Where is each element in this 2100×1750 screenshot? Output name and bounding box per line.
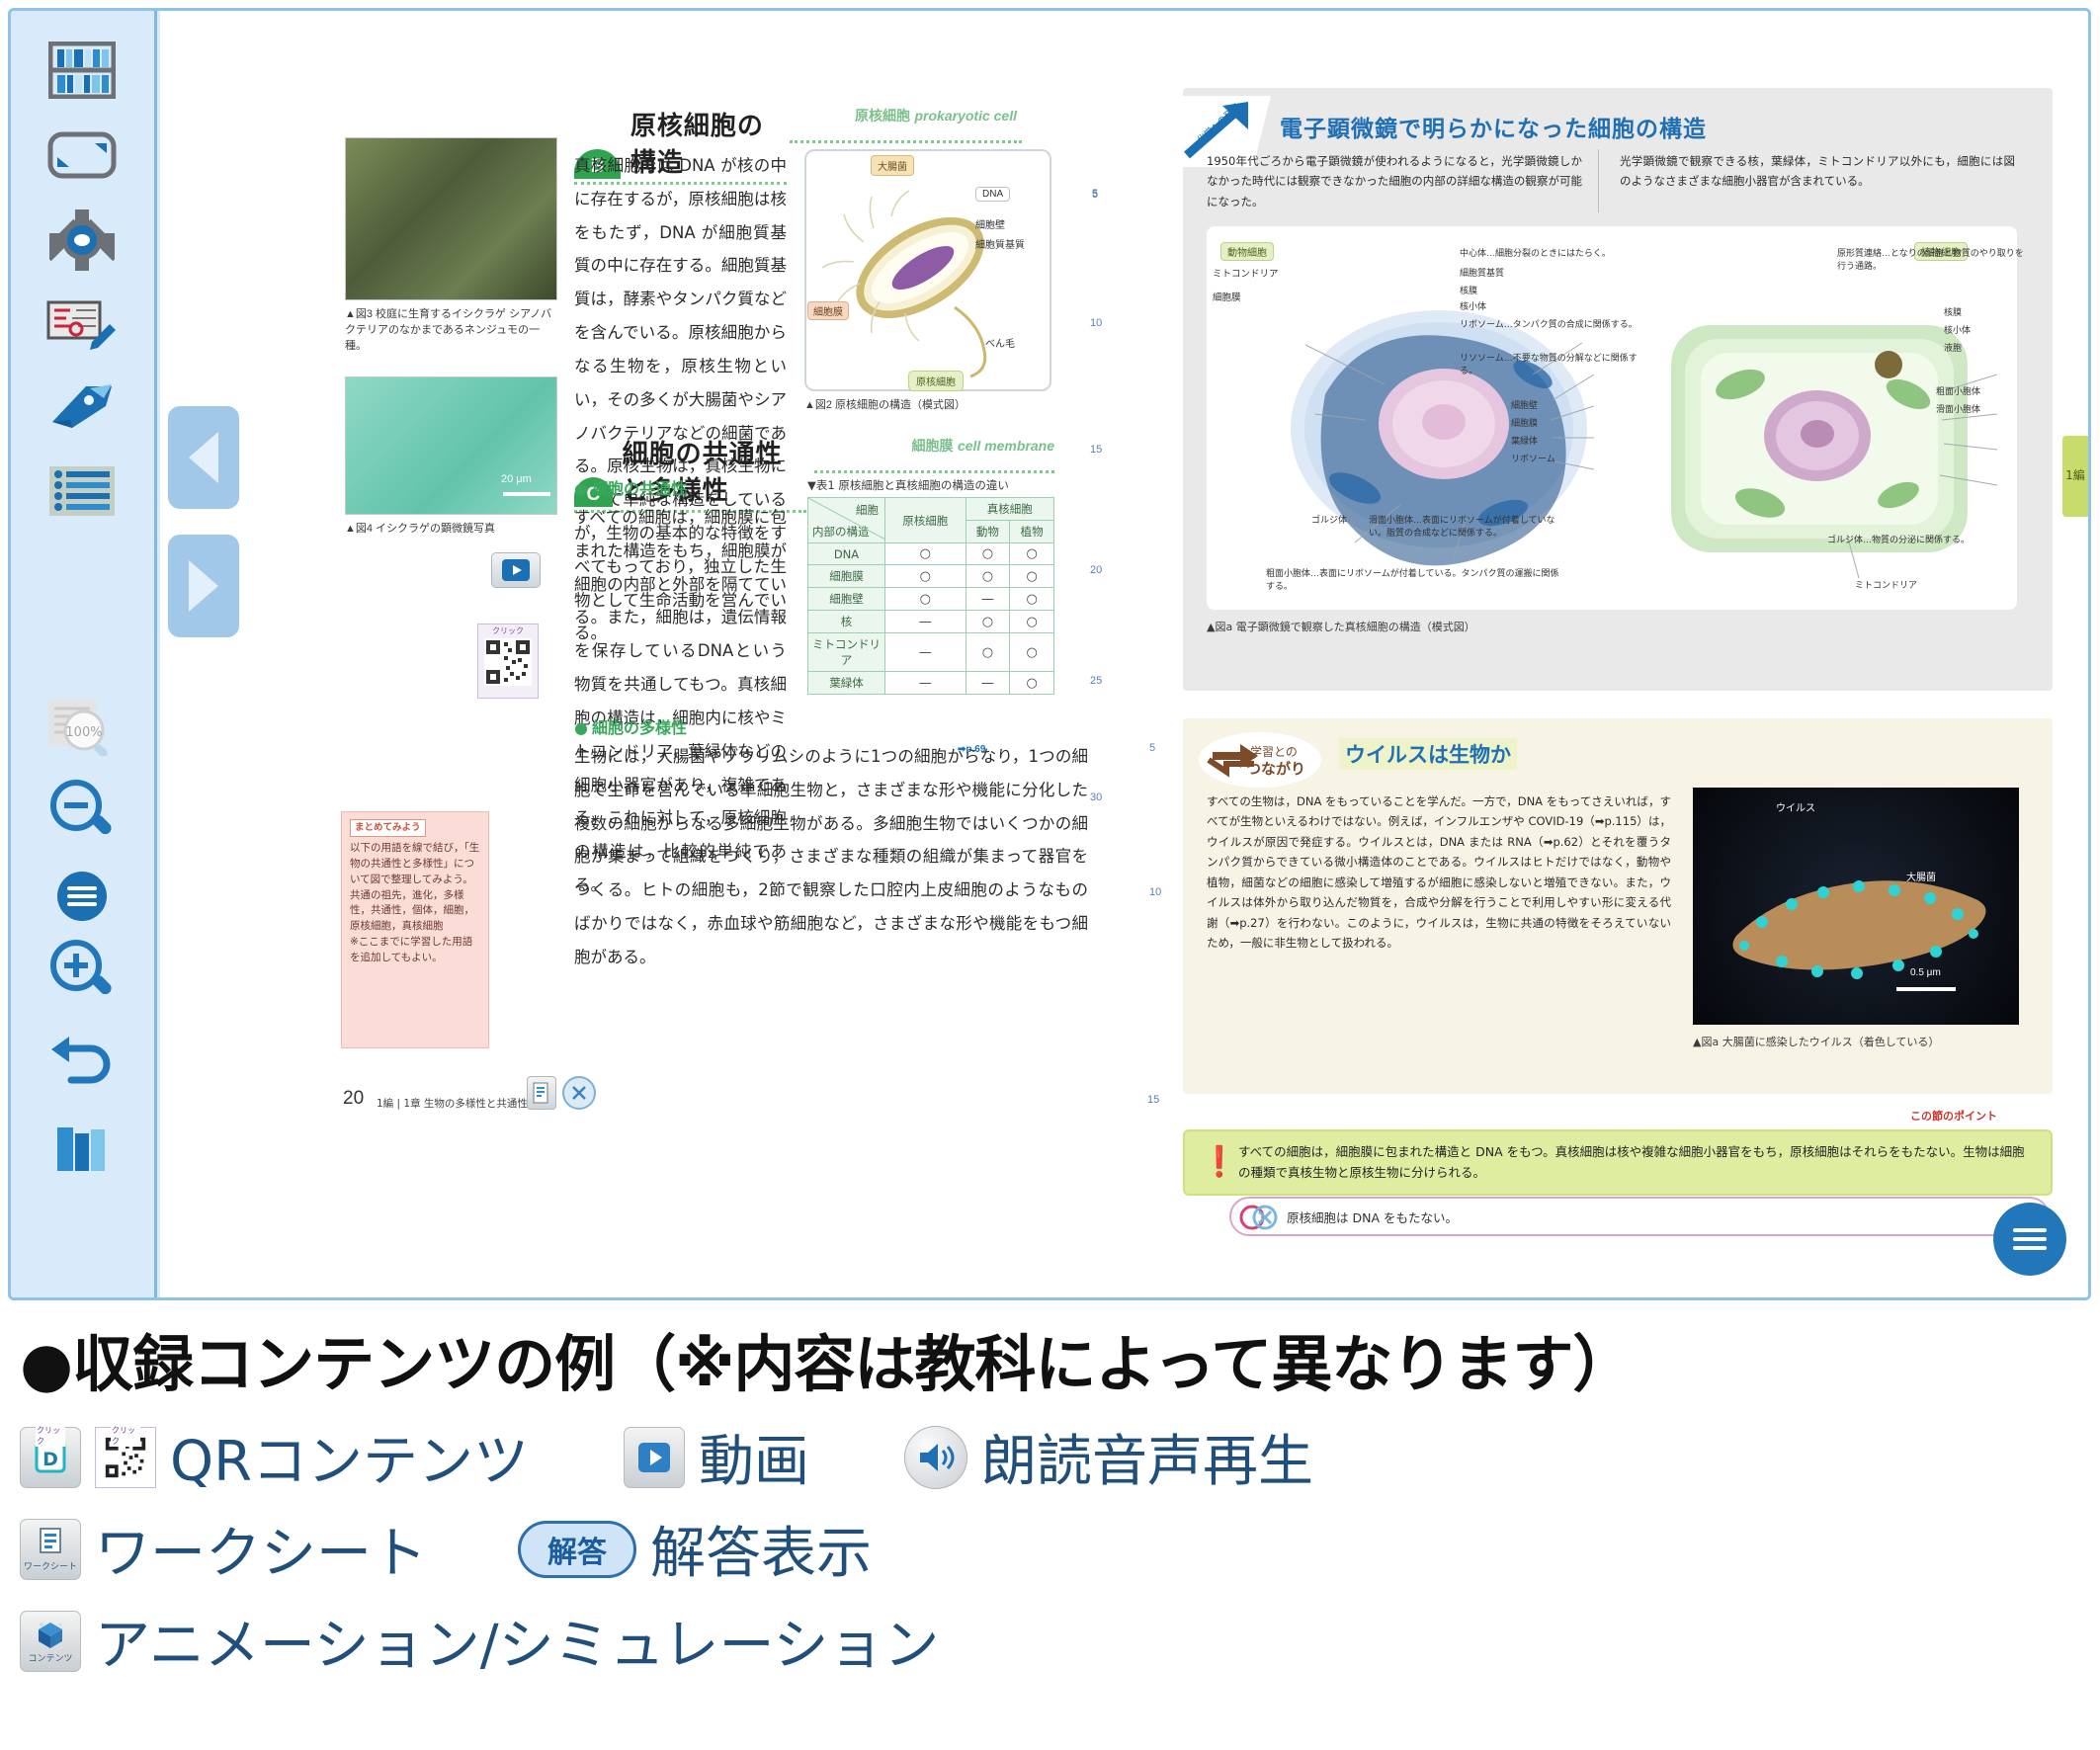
point-label: この節のポイント bbox=[1910, 1108, 1997, 1124]
legend-row-1: クリック D クリック bbox=[20, 1417, 2080, 1497]
table-row: ミトコンドリア—○○ bbox=[808, 633, 1054, 672]
label-lysosome: リソソーム…不要な物質の分解などに関係する。 bbox=[1460, 351, 1647, 376]
panel1-figure-card bbox=[1207, 226, 2017, 610]
contents-cube-icon: コンテンツ bbox=[20, 1611, 81, 1672]
marker-pen-icon[interactable] bbox=[37, 365, 127, 448]
label-rough-er-right: 粗面小胞体 bbox=[1936, 384, 1980, 397]
table1-cell: — bbox=[966, 672, 1010, 695]
svg-text:化学への発展: 化学への発展 bbox=[1195, 101, 1242, 145]
legend-label-video: 動画 bbox=[699, 1417, 809, 1497]
table1-corner: 細胞 内部の構造 bbox=[808, 498, 885, 543]
right-line-num-10: 10 bbox=[1149, 886, 1161, 898]
menu-fab-button[interactable] bbox=[1993, 1203, 2066, 1276]
side-chapter-tab[interactable]: 1編 bbox=[2062, 436, 2088, 517]
click-label-1: クリック bbox=[36, 1425, 65, 1447]
figure3-caption: ▲図3 校庭に生育するイシクラゲ シアノバクテリアのなかまであるネンジュモの一種… bbox=[345, 307, 557, 355]
svg-text:D: D bbox=[42, 1449, 58, 1470]
worksheet-icon: ワークシート bbox=[20, 1519, 81, 1580]
table1-cell: ○ bbox=[966, 565, 1010, 588]
table1-group-eukaryote: 真核細胞 bbox=[966, 498, 1054, 521]
answer-bar-text: 原核細胞は DNA をもたない。 bbox=[1287, 1208, 1458, 1226]
close-icon bbox=[570, 1084, 588, 1102]
term-membrane-jp: 細胞膜 bbox=[911, 439, 953, 455]
label-smooth-er-right: 滑面小胞体 bbox=[1936, 402, 1980, 415]
answer-marks-icon bbox=[1239, 1203, 1281, 1232]
table1-cell: ○ bbox=[966, 611, 1010, 633]
legend-row-2: ワークシート ワークシート 解答 解答表示 bbox=[20, 1509, 2080, 1589]
panel1-col2: 光学顕微鏡で観察できる核，葉緑体，ミトコンドリア以外にも，細胞には図のようなさま… bbox=[1620, 151, 2015, 192]
legend-label-worksheet: ワークシート bbox=[95, 1509, 427, 1589]
label-cytoplasm-matrix: 細胞質基質 bbox=[1460, 266, 1504, 279]
answer-icon: 解答 bbox=[518, 1521, 636, 1578]
play-icon bbox=[502, 559, 530, 581]
hamburger-icon bbox=[2013, 1223, 2047, 1255]
legend-item-answer[interactable]: 解答 解答表示 bbox=[518, 1509, 872, 1589]
legend-label-animation: アニメーション/シミュレーション bbox=[95, 1601, 939, 1681]
table1-cell: ○ bbox=[1010, 611, 1054, 633]
figure2-label-dna: DNA bbox=[975, 187, 1010, 202]
tool-rail: 100% bbox=[11, 11, 157, 1297]
zoom-out-icon[interactable] bbox=[37, 770, 127, 853]
table1-col-plant: 植物 bbox=[1010, 521, 1054, 543]
line-num-20: 20 bbox=[1090, 564, 1102, 576]
chevron-left-icon bbox=[189, 432, 218, 483]
label-golgi-func: ゴルジ体…物質の分泌に関係する。 bbox=[1827, 533, 1985, 545]
table1-cell: ○ bbox=[966, 633, 1010, 672]
table1-cell: — bbox=[885, 611, 966, 633]
table1-row-label: DNA bbox=[808, 543, 885, 565]
table1-cell: ○ bbox=[966, 543, 1010, 565]
menu-icon[interactable] bbox=[37, 855, 127, 938]
table1-row-label: ミトコンドリア bbox=[808, 633, 885, 672]
side-tab-label: 1編 bbox=[2065, 469, 2085, 483]
zoom-100-icon[interactable]: 100% bbox=[37, 685, 127, 768]
legend-row-3: コンテンツ アニメーション/シミュレーション bbox=[20, 1601, 2080, 1681]
audio-speaker-icon bbox=[904, 1426, 967, 1489]
table1-cell: ○ bbox=[1010, 543, 1054, 565]
section-c-sub1: 細胞の共通性 bbox=[574, 475, 687, 499]
figure2-caption: ▲図2 原核細胞の構造（模式図） bbox=[804, 398, 1051, 414]
video-play-button[interactable] bbox=[491, 552, 541, 588]
legend-item-worksheet[interactable]: ワークシート ワークシート bbox=[20, 1509, 427, 1589]
label-cellmembrane-left: 細胞膜 bbox=[1213, 290, 1241, 303]
legend-label-qr: QRコンテンツ bbox=[170, 1417, 529, 1497]
panel2-title: ウイルスは生物か bbox=[1339, 738, 1517, 770]
right-line-num-5: 5 bbox=[1149, 742, 1155, 754]
page-footer-meta: 1編 | 1章 生物の多様性と共通性 bbox=[377, 1096, 528, 1111]
panel2-caption: ▲図a 大腸菌に感染したウイルス（着色している） bbox=[1693, 1035, 2019, 1050]
qr-code-legend-icon: クリック bbox=[95, 1427, 156, 1488]
term-prokaryotic-en: prokaryotic cell bbox=[915, 108, 1018, 124]
line-num-25: 25 bbox=[1090, 675, 1102, 687]
cube-icon bbox=[35, 1619, 66, 1650]
virus-photo bbox=[1693, 788, 2019, 1025]
section-c-body2: 生物には，大腸菌やゾウリムシのように1つの細胞からなり，1つの細胞で生命を営んで… bbox=[574, 740, 1088, 974]
virus-photo-label-ecoli: 大腸菌 bbox=[1906, 869, 1936, 883]
virus-photo-scale: 0.5 μm bbox=[1910, 967, 1941, 978]
play-button-icon bbox=[634, 1441, 674, 1474]
table1-cell: — bbox=[966, 588, 1010, 611]
chevron-right-icon bbox=[189, 560, 218, 612]
fullscreen-icon[interactable] bbox=[37, 114, 127, 197]
line-num-15: 15 bbox=[1090, 444, 1102, 456]
table1-row-label: 核 bbox=[808, 611, 885, 633]
figure2-label-flagellum: べん毛 bbox=[985, 335, 1015, 350]
virus-scale-bar bbox=[1896, 987, 1956, 991]
click-label-2: クリック bbox=[111, 1425, 140, 1447]
summary-box: まとめてみよう 以下の用語を線で結び，「生物の共通性と多様性」について図で整理し… bbox=[341, 811, 489, 1048]
exclamation-icon: ❗ bbox=[1201, 1137, 1237, 1188]
label-mitochondria-left: ミトコンドリア bbox=[1213, 266, 1279, 280]
figure3-photo bbox=[345, 137, 557, 300]
table1-cell: ○ bbox=[885, 588, 966, 611]
label-animal-cell: 動物細胞 bbox=[1220, 242, 1274, 261]
worksheet-icon bbox=[533, 1082, 550, 1104]
table1-cell: ○ bbox=[1010, 633, 1054, 672]
table1-row-label: 葉緑体 bbox=[808, 672, 885, 695]
table1-col-prokaryote: 原核細胞 bbox=[885, 498, 966, 543]
right-line-num-15: 15 bbox=[1147, 1094, 1159, 1106]
figure2-box bbox=[804, 149, 1051, 391]
table-row: DNA○○○ bbox=[808, 543, 1054, 565]
svg-text:学習との: 学習との bbox=[1250, 744, 1298, 759]
term-membrane-en: cell membrane bbox=[958, 438, 1054, 454]
table1-cell: ○ bbox=[885, 565, 966, 588]
books-icon[interactable] bbox=[37, 1108, 127, 1191]
qr-code-icon bbox=[484, 638, 532, 686]
table1-row-label: 細胞壁 bbox=[808, 588, 885, 611]
term-rule-b bbox=[790, 140, 1022, 143]
table-row: 核—○○ bbox=[808, 611, 1054, 633]
speaker-icon bbox=[916, 1440, 956, 1475]
table1-cell: — bbox=[885, 672, 966, 695]
video-icon bbox=[624, 1427, 685, 1488]
qr-content-button[interactable]: クリック bbox=[477, 624, 539, 699]
label-cellmembrane-center: 細胞膜 bbox=[1511, 416, 1538, 429]
figure2-label-membrane: 細胞膜 bbox=[807, 301, 849, 320]
label-ribosome-plant: リボソーム bbox=[1511, 452, 1555, 464]
worksheet-button[interactable] bbox=[527, 1076, 556, 1110]
legend-item-animation[interactable]: コンテンツ アニメーション/シミュレーション bbox=[20, 1601, 939, 1681]
line-num-5: 5 bbox=[1092, 189, 1098, 201]
panel2-body: すべての生物は，DNA をもっていることを学んだ。一方で，DNA をもってさえい… bbox=[1207, 792, 1671, 954]
table1-cell: ○ bbox=[1010, 565, 1054, 588]
figure4-scale-label: 20 μm bbox=[501, 473, 532, 485]
label-chloroplast: 葉緑体 bbox=[1511, 434, 1538, 447]
contents-mini-label: コンテンツ bbox=[28, 1651, 72, 1664]
textbook-right-page: 化学への発展 電子顕微鏡で明らかになった細胞の構造 1950年代ごろから電子顕微… bbox=[1163, 11, 2082, 1279]
legend-item-audio[interactable]: 朗読音声再生 bbox=[904, 1417, 1313, 1497]
table1-body: DNA○○○細胞膜○○○細胞壁○—○核—○○ミトコンドリア—○○葉緑体——○ bbox=[808, 543, 1054, 695]
undo-icon[interactable] bbox=[37, 1021, 127, 1104]
table1-row-label: 細胞膜 bbox=[808, 565, 885, 588]
prev-page-button[interactable] bbox=[168, 406, 239, 509]
legend-section: ●収録コンテンツの例（※内容は教科によって異なります） クリック D クリック bbox=[20, 1314, 2080, 1681]
panel1-col1: 1950年代ごろから電子顕微鏡が使われるようになると，光学顕微鏡しかなかった時代… bbox=[1207, 151, 1582, 211]
bookshelf-icon[interactable] bbox=[37, 29, 127, 112]
summary-box-text: 以下の用語を線で結び，「生物の共通性と多様性」について図で整理してみよう。 共通… bbox=[350, 841, 480, 965]
label-centrosome: 中心体…細胞分裂のときにはたらく。 bbox=[1460, 246, 1611, 259]
point-banner: ❗ すべての細胞は，細胞膜に包まれた構造と DNA をもつ。真核細胞は核や複雑な… bbox=[1183, 1129, 2053, 1196]
label-vacuole: 液胞 bbox=[1944, 341, 1962, 354]
label-nuclear-membrane-right: 核膜 bbox=[1944, 305, 1962, 318]
table1: 細胞 内部の構造 原核細胞 真核細胞 動物 植物 DNA bbox=[807, 497, 1054, 695]
table1-cell: ○ bbox=[1010, 588, 1054, 611]
panel1-divider bbox=[1598, 149, 1599, 212]
svg-text:つながり: つながり bbox=[1246, 760, 1305, 778]
figure2-label-wall: 細胞壁 bbox=[975, 216, 1005, 231]
figure4-caption: ▲図4 イシクラゲの顕微鏡写真 bbox=[345, 522, 572, 538]
table-row: 葉緑体——○ bbox=[808, 672, 1054, 695]
legend-heading: ●収録コンテンツの例（※内容は教科によって異なります） bbox=[20, 1314, 2080, 1403]
table-row: 細胞壁○—○ bbox=[808, 588, 1054, 611]
label-ribosome: リボソーム…タンパク質の合成に関係する。 bbox=[1460, 317, 1647, 330]
legend-label-audio: 朗読音声再生 bbox=[981, 1417, 1313, 1497]
worksheet-mini-label: ワークシート bbox=[24, 1559, 77, 1572]
virus-photo-label-virus: ウイルス bbox=[1776, 799, 1815, 814]
label-golgi: ゴルジ体 bbox=[1311, 513, 1347, 526]
label-plasmodesma: 原形質連絡…となりの細胞と物質のやり取りを行う通路。 bbox=[1837, 246, 2025, 272]
summary-box-tag: まとめてみよう bbox=[350, 819, 426, 837]
answer-input-bar[interactable]: 原核細胞は DNA をもたない。 bbox=[1229, 1197, 2050, 1236]
textbook-left-page: ▲図3 校庭に生育するイシクラゲ シアノバクテリアのなかまであるネンジュモの一種… bbox=[266, 11, 1135, 1279]
panel1-title: 電子顕微鏡で明らかになった細胞の構造 bbox=[1280, 110, 1707, 143]
label-nucleolus: 核小体 bbox=[1460, 299, 1486, 312]
line-num-30: 30 bbox=[1090, 792, 1102, 803]
zoom-in-icon[interactable] bbox=[37, 930, 127, 1013]
term-prokaryotic-jp: 原核細胞 bbox=[855, 109, 910, 125]
figure4-scale-bar bbox=[503, 492, 550, 496]
table1-cell: — bbox=[885, 633, 966, 672]
page-canvas: ▲図3 校庭に生育するイシクラゲ シアノバクテリアのなかまであるネンジュモの一種… bbox=[160, 11, 2088, 1297]
section-c-sub2: 細胞の多様性 bbox=[574, 714, 687, 738]
qr-click-label: クリック bbox=[492, 625, 524, 636]
table1-caption: ▼表1 原核細胞と真核細胞の構造の違い bbox=[807, 477, 1009, 493]
label-nucleolus-right: 核小体 bbox=[1944, 323, 1971, 336]
page-number: 20 bbox=[343, 1088, 364, 1110]
answer-toggle-button[interactable] bbox=[562, 1076, 596, 1110]
label-mitochondria-right: ミトコンドリア bbox=[1855, 578, 1917, 591]
label-rough-er: 粗面小胞体…表面にリボソームが付着している。タンパク質の運搬に関係する。 bbox=[1266, 566, 1562, 592]
legend-label-answer: 解答表示 bbox=[650, 1509, 872, 1589]
panel1-figure-caption: ▲図a 電子顕微鏡で観察した真核細胞の構造（模式図） bbox=[1207, 620, 1475, 635]
figure2-label-cytoplasm: 細胞質基質 bbox=[975, 236, 1025, 251]
legend-item-video[interactable]: 動画 bbox=[624, 1417, 809, 1497]
next-page-button[interactable] bbox=[168, 535, 239, 637]
label-nuclear-membrane: 核膜 bbox=[1460, 284, 1477, 296]
figure2-label-prokaryote: 原核細胞 bbox=[908, 371, 964, 391]
table1-col-animal: 動物 bbox=[966, 521, 1010, 543]
line-num-10: 10 bbox=[1090, 317, 1102, 329]
label-cellwall: 細胞壁 bbox=[1511, 398, 1538, 411]
point-text: すべての細胞は，細胞膜に包まれた構造と DNA をもつ。真核細胞は核や複雑な細胞… bbox=[1238, 1144, 2025, 1180]
gear-icon[interactable] bbox=[37, 199, 127, 282]
svg-text:100%: 100% bbox=[65, 725, 102, 740]
learning-link-icon: 学習との つながり bbox=[1197, 728, 1323, 790]
qr-content-icon: クリック D bbox=[20, 1427, 81, 1488]
edit-text-icon[interactable] bbox=[37, 284, 127, 367]
table1-cell: ○ bbox=[885, 543, 966, 565]
document-icon bbox=[36, 1527, 65, 1558]
table1-cell: ○ bbox=[1010, 672, 1054, 695]
term-rule-c bbox=[814, 470, 1054, 473]
label-smooth-er: 滑面小胞体…表面にリボソームが付着していない。脂質の合成などに関係する。 bbox=[1369, 513, 1566, 539]
figure2-label-ecoli: 大腸菌 bbox=[871, 155, 914, 176]
table-row: 細胞膜○○○ bbox=[808, 565, 1054, 588]
ebook-viewer-window: 100% bbox=[8, 8, 2091, 1300]
list-icon[interactable] bbox=[37, 450, 127, 533]
legend-item-qr[interactable]: クリック D クリック bbox=[20, 1417, 529, 1497]
ref-link-p69[interactable]: ➡p.69 bbox=[958, 744, 985, 755]
